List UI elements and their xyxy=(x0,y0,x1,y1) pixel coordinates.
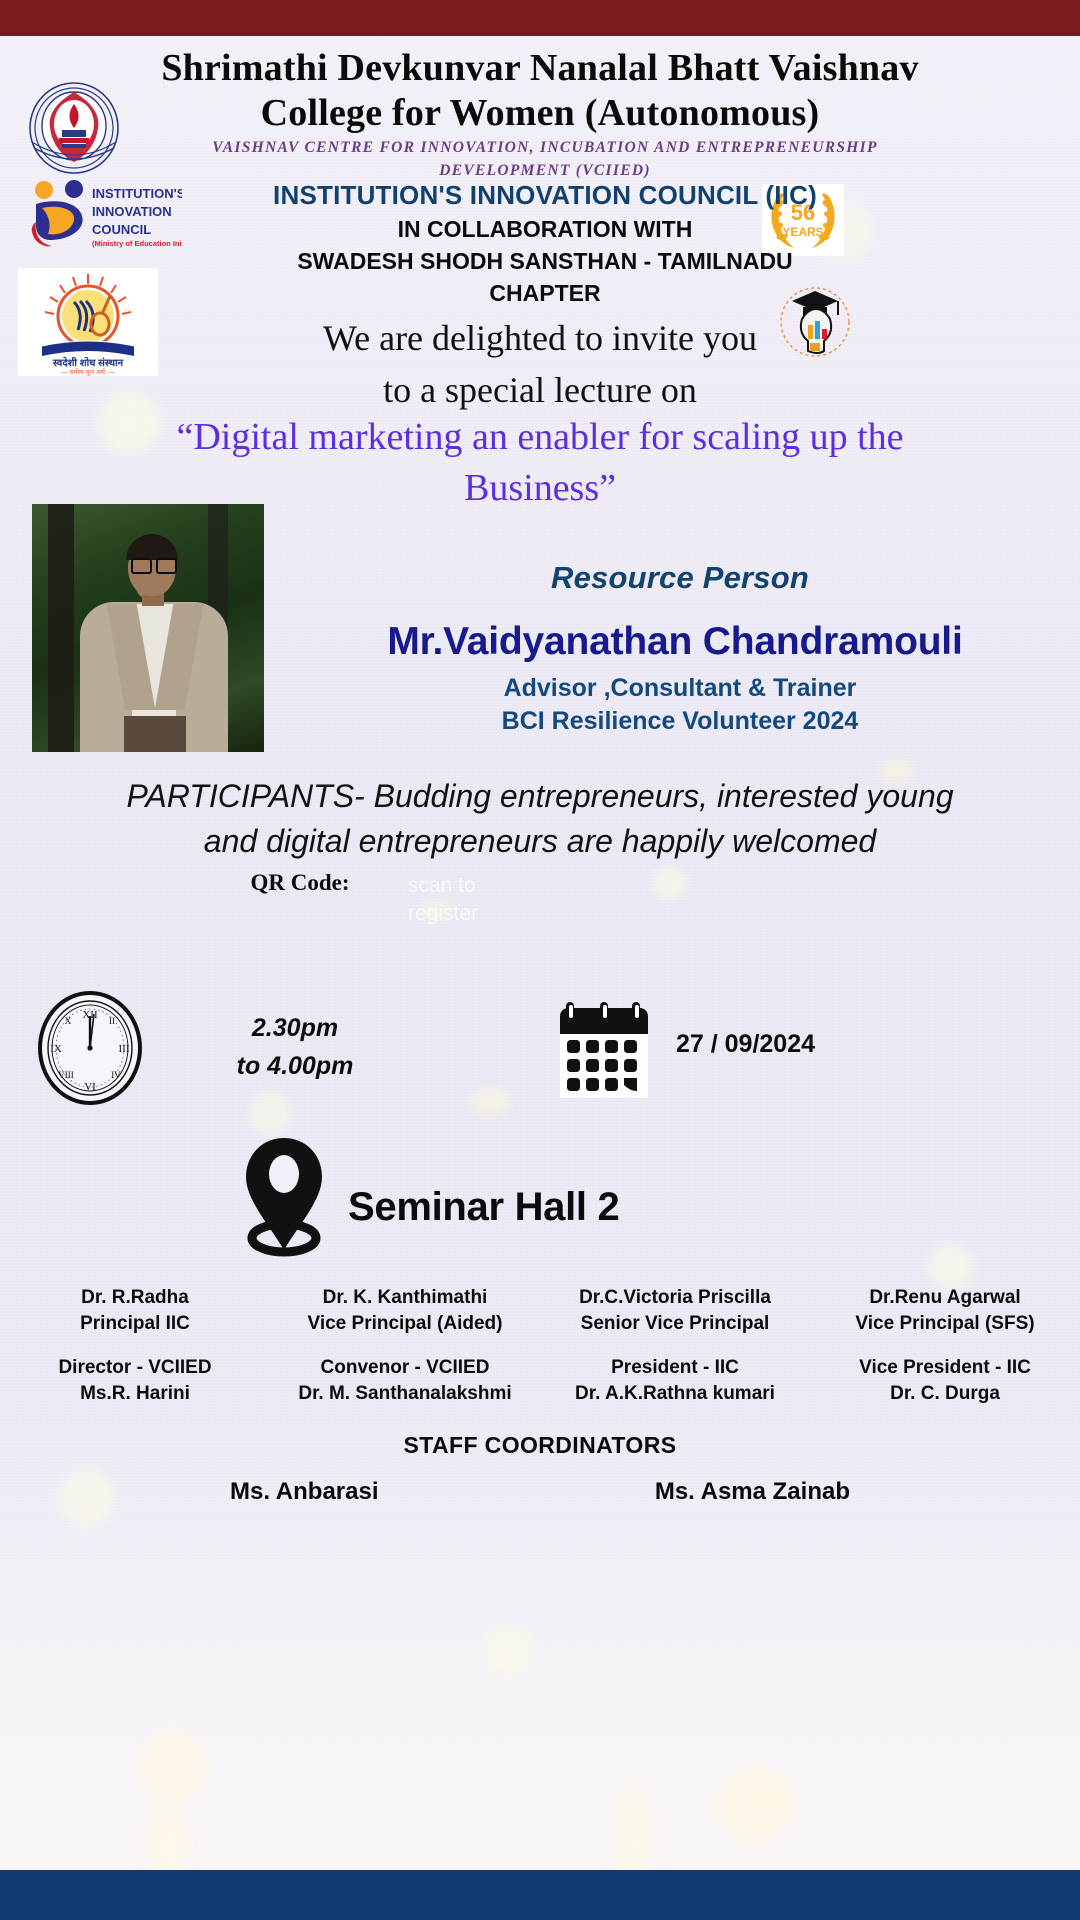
svg-text:VIII: VIII xyxy=(58,1070,74,1080)
venue-name: Seminar Hall 2 xyxy=(348,1185,808,1230)
dignitary-name: Dr. R.Radha xyxy=(4,1285,266,1311)
dignitary-name: Ms.R. Harini xyxy=(4,1381,266,1407)
collab-line3: CHAPTER xyxy=(150,277,940,309)
dignitary-name: Dr.Renu Agarwal xyxy=(814,1285,1076,1311)
event-date: 27 / 09/2024 xyxy=(676,1030,936,1059)
lecture-topic: “Digital marketing an enabler for scalin… xyxy=(50,412,1030,515)
dignitary-designation: Senior Vice Principal xyxy=(544,1311,806,1337)
dignitary-designation: Director - VCIIED xyxy=(4,1355,266,1381)
swadesh-shodh-sansthan-logo: स्वदेशी शोध संस्थान — धर्मस्य मूलं अर्थः… xyxy=(18,268,158,376)
svg-text:II: II xyxy=(109,1016,115,1026)
dignitary-cell: Dr.C.Victoria Priscilla Senior Vice Prin… xyxy=(540,1285,810,1337)
resource-person-photo xyxy=(32,504,264,752)
event-invitation-poster: INSTITUTION'S INNOVATION COUNCIL (Minist… xyxy=(0,0,1080,1920)
collab-line1: IN COLLABORATION WITH xyxy=(150,213,940,245)
svg-text:IV: IV xyxy=(111,1070,121,1080)
time-line2: to 4.00pm xyxy=(170,1048,420,1086)
resource-person-role-line1: Advisor ,Consultant & Trainer xyxy=(300,672,1060,705)
dignitary-designation: President - IIC xyxy=(544,1355,806,1381)
top-accent-bar xyxy=(0,0,1080,36)
svg-text:IX: IX xyxy=(50,1043,62,1055)
qr-scan-line1: scan to xyxy=(408,872,568,900)
invitation-text: We are delighted to invite you to a spec… xyxy=(140,312,940,416)
svg-text:— धर्मस्य मूलं अर्थः —: — धर्मस्य मूलं अर्थः — xyxy=(61,368,115,376)
centre-line2: DEVELOPMENT (VCIIED) xyxy=(130,159,960,182)
dignitary-name: Dr.C.Victoria Priscilla xyxy=(544,1285,806,1311)
college-name-line1: Shrimathi Devkunvar Nanalal Bhatt Vaishn… xyxy=(80,46,1000,91)
dignitary-cell: Dr. R.Radha Principal IIC xyxy=(0,1285,270,1337)
invite-line2: to a special lecture on xyxy=(140,364,940,416)
resource-person-name: Mr.Vaidyanathan Chandramouli xyxy=(280,620,1070,664)
svg-text:स्वदेशी शोध संस्थान: स्वदेशी शोध संस्थान xyxy=(52,356,124,369)
staff-coordinators-title: STAFF COORDINATORS xyxy=(0,1432,1080,1459)
qr-scan-line2: register xyxy=(408,900,568,928)
qr-code-label: QR Code: xyxy=(180,870,420,896)
participants-line1: PARTICIPANTS- Budding entrepreneurs, int… xyxy=(20,774,1060,819)
dignitary-cell: Convenor - VCIIED Dr. M. Santhanalakshmi xyxy=(270,1355,540,1407)
resource-person-role: Advisor ,Consultant & Trainer BCI Resili… xyxy=(300,672,1060,738)
dignitary-name: Dr. C. Durga xyxy=(814,1381,1076,1407)
dignitary-name: Dr. A.K.Rathna kumari xyxy=(544,1381,806,1407)
photo-background-tree xyxy=(48,504,74,752)
photo-person-hair xyxy=(126,534,178,560)
svg-text:III: III xyxy=(119,1043,130,1055)
dignitary-designation: Vice President - IIC xyxy=(814,1355,1076,1381)
staff-coordinator-name: Ms. Anbarasi xyxy=(230,1478,379,1506)
photo-person-glasses xyxy=(131,558,152,574)
dignitaries-row-1: Dr. R.Radha Principal IIC Dr. K. Kanthim… xyxy=(0,1285,1080,1337)
centre-line1: VAISHNAV CENTRE FOR INNOVATION, INCUBATI… xyxy=(130,136,960,159)
time-line1: 2.30pm xyxy=(170,1010,420,1048)
resource-person-role-line2: BCI Resilience Volunteer 2024 xyxy=(300,705,1060,738)
dignitary-cell: Dr.Renu Agarwal Vice Principal (SFS) xyxy=(810,1285,1080,1337)
dignitary-name: Dr. K. Kanthimathi xyxy=(274,1285,536,1311)
page-title: Shrimathi Devkunvar Nanalal Bhatt Vaishn… xyxy=(80,46,1000,136)
college-name-line2: College for Women (Autonomous) xyxy=(80,91,1000,136)
location-pin-icon xyxy=(236,1134,332,1260)
participants-line2: and digital entrepreneurs are happily we… xyxy=(20,819,1060,864)
participants-text: PARTICIPANTS- Budding entrepreneurs, int… xyxy=(20,774,1060,864)
dignitaries-row-2: Director - VCIIED Ms.R. Harini Convenor … xyxy=(0,1355,1080,1407)
centre-subtitle: VAISHNAV CENTRE FOR INNOVATION, INCUBATI… xyxy=(130,136,960,183)
dignitary-name: Dr. M. Santhanalakshmi xyxy=(274,1381,536,1407)
collab-line2: SWADESH SHODH SANSTHAN - TAMILNADU xyxy=(150,245,940,277)
svg-text:COUNCIL: COUNCIL xyxy=(92,222,151,237)
dignitary-designation: Principal IIC xyxy=(4,1311,266,1337)
iic-heading: INSTITUTION'S INNOVATION COUNCIL (IIC) xyxy=(150,180,940,211)
staff-coordinators-list: Ms. Anbarasi Ms. Asma Zainab xyxy=(230,1478,850,1506)
dignitary-cell: Vice President - IIC Dr. C. Durga xyxy=(810,1355,1080,1407)
staff-coordinator-name: Ms. Asma Zainab xyxy=(655,1478,850,1506)
dignitary-designation: Convenor - VCIIED xyxy=(274,1355,536,1381)
svg-text:X: X xyxy=(65,1016,72,1026)
photo-person-trousers xyxy=(124,716,186,752)
collaboration-block: IN COLLABORATION WITH SWADESH SHODH SANS… xyxy=(150,213,940,310)
qr-scan-hint: scan to register xyxy=(408,872,568,929)
dignitary-designation: Vice Principal (Aided) xyxy=(274,1311,536,1337)
event-time: 2.30pm to 4.00pm xyxy=(170,1010,420,1085)
calendar-icon xyxy=(556,996,660,1102)
clock-icon: XII III VI IX X II IV VIII xyxy=(36,990,144,1106)
dignitary-cell: Director - VCIIED Ms.R. Harini xyxy=(0,1355,270,1407)
texture-blob xyxy=(470,1088,510,1114)
bottom-accent-bar xyxy=(0,1870,1080,1920)
dignitary-cell: President - IIC Dr. A.K.Rathna kumari xyxy=(540,1355,810,1407)
photo-person-glasses xyxy=(156,558,177,574)
dignitary-designation: Vice Principal (SFS) xyxy=(814,1311,1076,1337)
dignitary-cell: Dr. K. Kanthimathi Vice Principal (Aided… xyxy=(270,1285,540,1337)
topic-line1: “Digital marketing an enabler for scalin… xyxy=(50,412,1030,463)
svg-text:VI: VI xyxy=(84,1081,96,1093)
resource-person-label: Resource Person xyxy=(300,560,1060,596)
invite-line1: We are delighted to invite you xyxy=(140,312,940,364)
